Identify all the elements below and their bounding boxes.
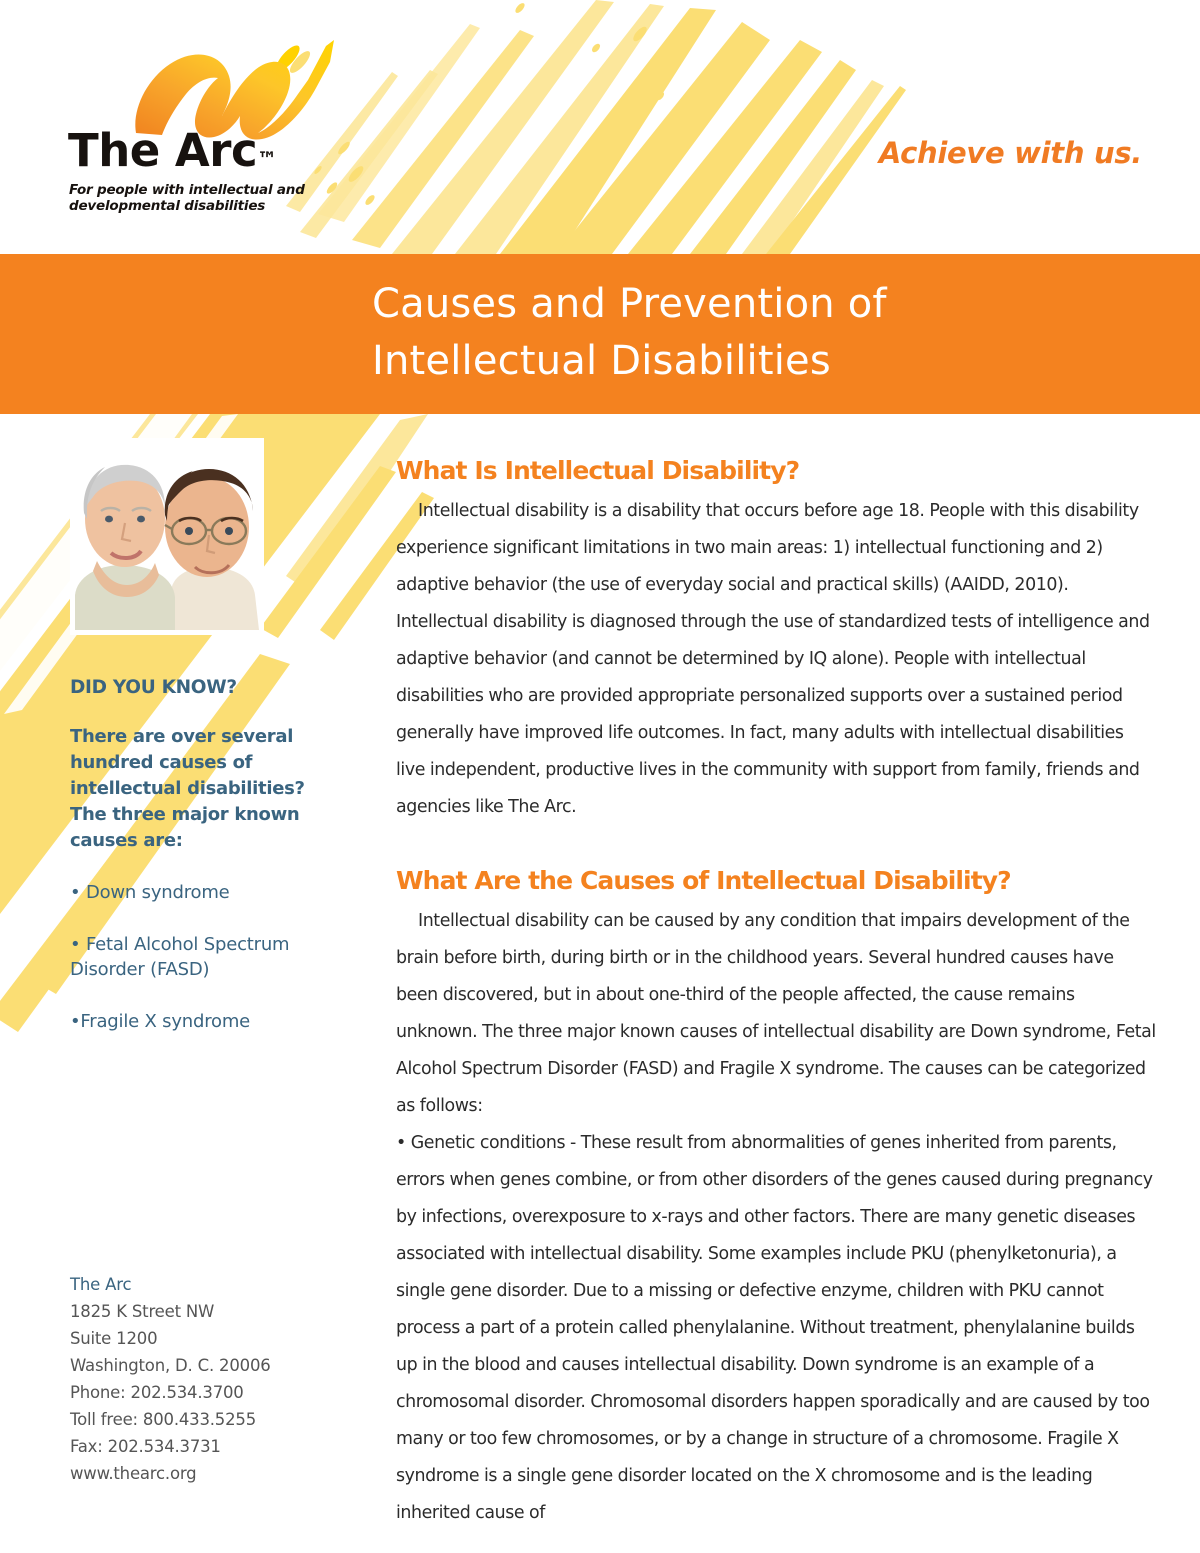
paragraph-genetic-conditions-bullet: • Genetic conditions - These result from… bbox=[396, 1125, 1156, 1532]
document-page: The Arc™ For people with intellectual an… bbox=[0, 0, 1200, 1553]
contact-block: The Arc 1825 K Street NW Suite 1200 Wash… bbox=[70, 1271, 350, 1487]
heading-what-are-the-causes: What Are the Causes of Intellectual Disa… bbox=[396, 866, 1156, 895]
trademark-symbol: ™ bbox=[257, 147, 277, 171]
sidebar-bullet-down-syndrome: • Down syndrome bbox=[70, 880, 330, 905]
paragraph-what-is-intellectual-disability: Intellectual disability is a disability … bbox=[396, 493, 1156, 826]
paragraph-causes-intro: Intellectual disability can be caused by… bbox=[396, 903, 1156, 1125]
did-you-know-block: DID YOU KNOW? There are over several hun… bbox=[70, 677, 330, 1061]
logo-wordmark: The Arc™ bbox=[68, 124, 277, 177]
title-banner: Causes and Prevention of Intellectual Di… bbox=[0, 254, 1200, 414]
heading-what-is-intellectual-disability: What Is Intellectual Disability? bbox=[396, 456, 1156, 485]
sidebar-bullet-fragile-x: •Fragile X syndrome bbox=[70, 1009, 330, 1034]
did-you-know-heading: DID YOU KNOW? bbox=[70, 677, 330, 698]
contact-org-name: The Arc bbox=[70, 1271, 350, 1298]
sidebar-photo-frame bbox=[70, 438, 264, 635]
sidebar-bullet-fasd: • Fetal Alcohol Spectrum Disorder (FASD) bbox=[70, 932, 330, 982]
photo-illustration bbox=[75, 443, 259, 630]
page-header: The Arc™ For people with intellectual an… bbox=[0, 0, 1200, 254]
photo-two-people bbox=[75, 443, 259, 630]
page-content: DID YOU KNOW? There are over several hun… bbox=[0, 414, 1200, 1553]
slogan-achieve-with-us: Achieve with us. bbox=[879, 136, 1142, 170]
page-title: Causes and Prevention of Intellectual Di… bbox=[372, 276, 887, 390]
main-column: What Is Intellectual Disability? Intelle… bbox=[396, 414, 1156, 1532]
sidebar: DID YOU KNOW? There are over several hun… bbox=[0, 414, 380, 1553]
did-you-know-body: There are over several hundred causes of… bbox=[70, 724, 330, 854]
logo-tagline: For people with intellectual and develop… bbox=[69, 182, 309, 214]
contact-details: 1825 K Street NW Suite 1200 Washington, … bbox=[70, 1298, 350, 1487]
